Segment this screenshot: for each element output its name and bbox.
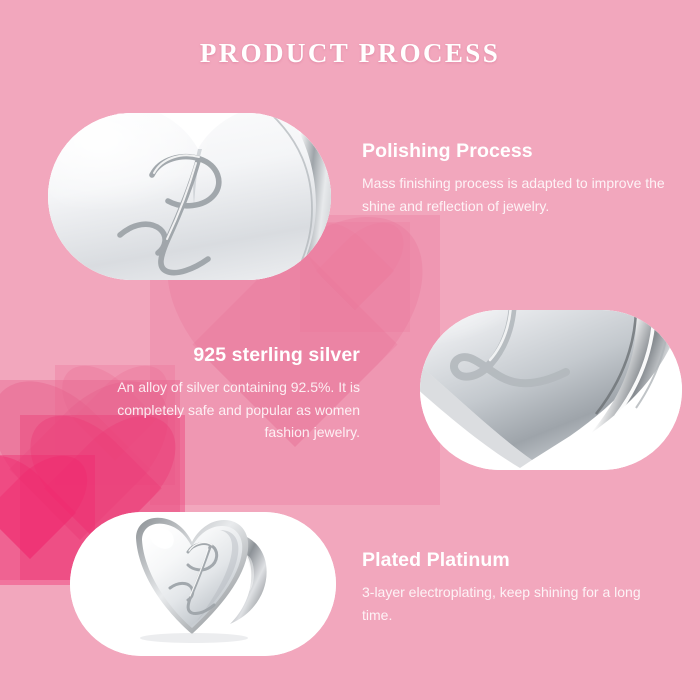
section-body: Mass finishing process is adapted to imp…: [362, 172, 682, 217]
section-heading: Polishing Process: [362, 140, 682, 163]
product-image-card-polishing: [48, 113, 331, 280]
section-heading: Plated Platinum: [362, 549, 662, 572]
heart-charm-full-image: [70, 512, 336, 656]
section-heading: 925 sterling silver: [72, 344, 360, 367]
section-sterling-silver: 925 sterling silver An alloy of silver c…: [72, 344, 360, 444]
heart-charm-closeup-image: [48, 113, 331, 280]
section-body: An alloy of silver containing 92.5%. It …: [72, 376, 360, 444]
section-body: 3-layer electroplating, keep shining for…: [362, 581, 662, 626]
product-image-card-sterling-silver: [420, 310, 682, 470]
product-process-poster: PRODUCT PROCESS: [0, 0, 700, 700]
product-image-card-plated-platinum: [70, 512, 336, 656]
section-polishing-process: Polishing Process Mass finishing process…: [362, 140, 682, 217]
heart-charm-macro-image: [420, 310, 682, 470]
page-title: PRODUCT PROCESS: [0, 38, 700, 69]
section-plated-platinum: Plated Platinum 3-layer electroplating, …: [362, 549, 662, 626]
